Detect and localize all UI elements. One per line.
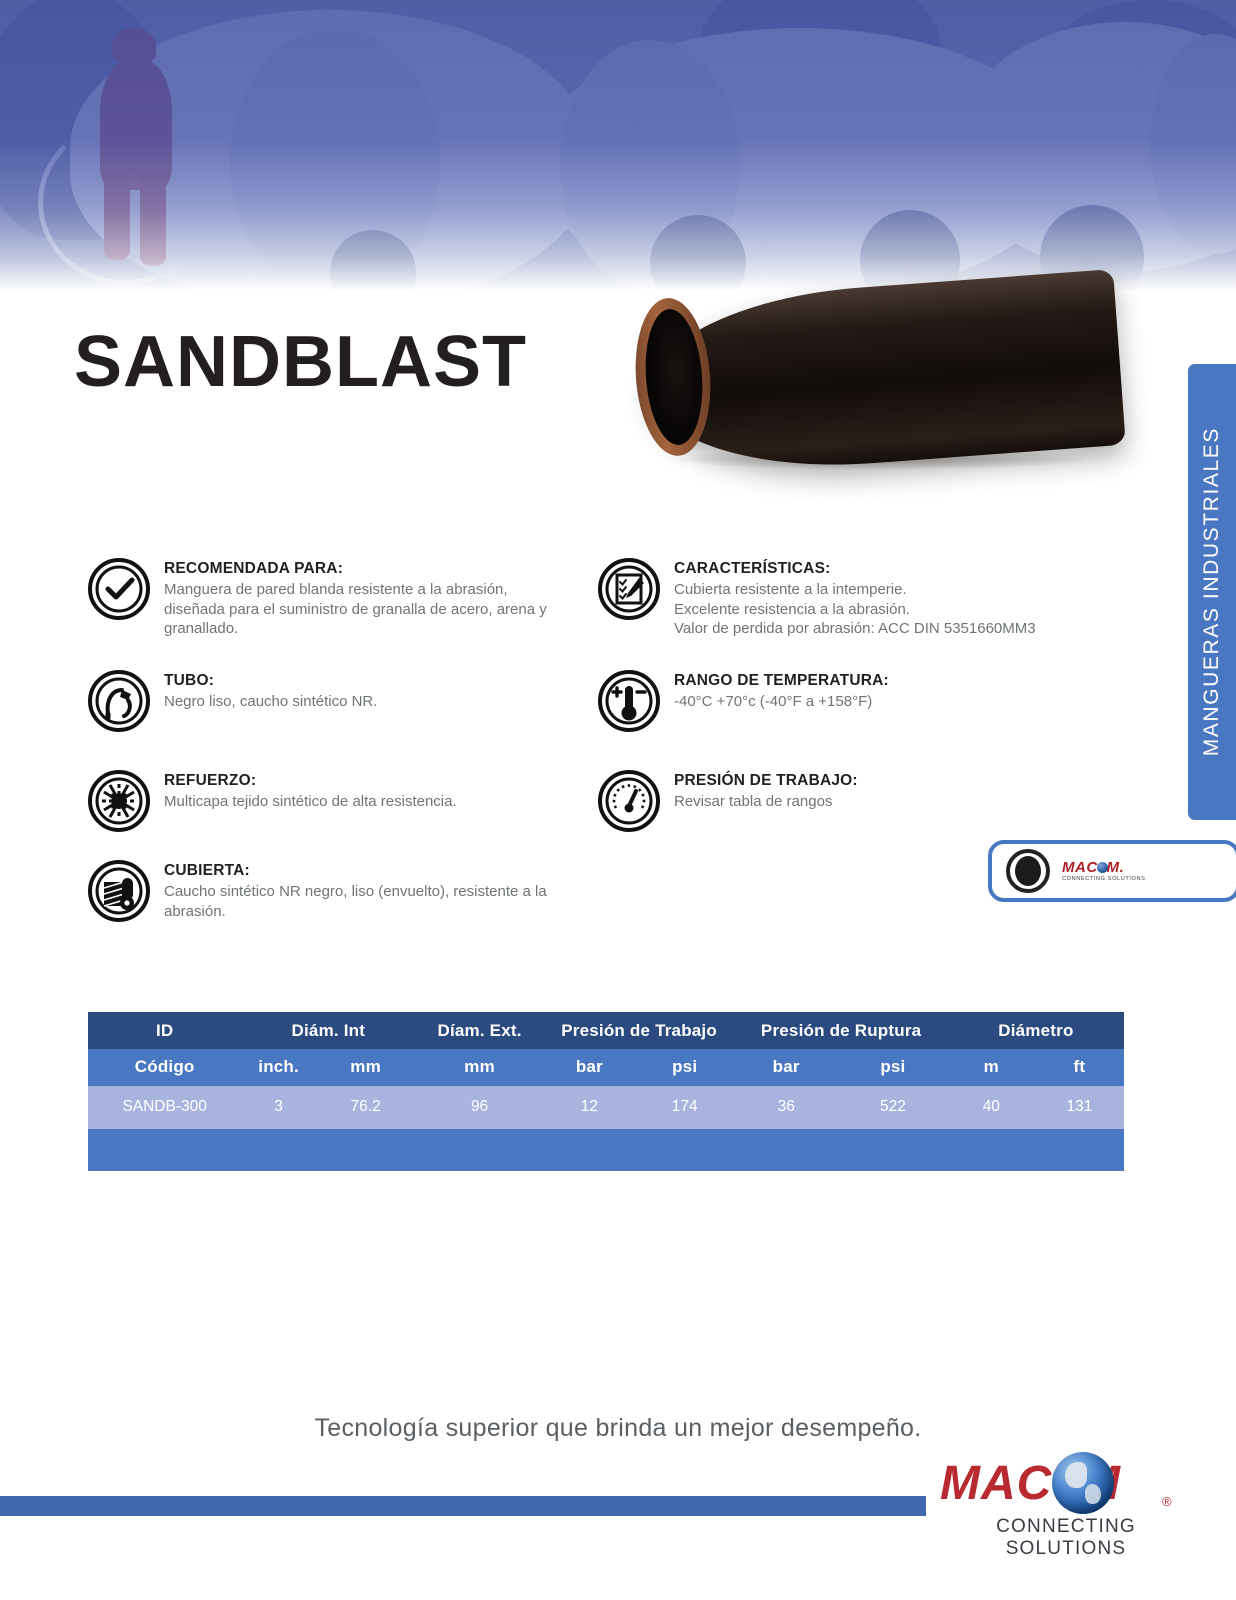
badge-logo-subtitle: CONNECTING SOLUTIONS	[1062, 877, 1145, 883]
table-unit-header: bar	[544, 1049, 635, 1086]
pressure-gauge-icon	[598, 770, 660, 832]
table-cell: 76.2	[316, 1086, 415, 1129]
product-image	[600, 262, 1140, 487]
feature-body: Negro liso, caucho sintético NR.	[164, 692, 377, 712]
feature-item-presion-de-trabajo: PRESIÓN DE TRABAJO: Revisar tabla de ran…	[598, 770, 1098, 832]
table-footer-cell	[88, 1129, 1124, 1171]
feature-heading: CUBIERTA:	[164, 862, 558, 880]
hose-cross-section-icon	[1006, 849, 1050, 893]
table-footer-row	[88, 1129, 1124, 1171]
feature-heading: PRESIÓN DE TRABAJO:	[674, 772, 858, 790]
hose-nozzle-icon	[88, 670, 150, 732]
table-group-header: Presión de Ruptura	[734, 1012, 947, 1049]
feature-body: Revisar tabla de rangos	[674, 792, 858, 812]
table-unit-header: psi	[838, 1049, 948, 1086]
footer-bar	[0, 1496, 926, 1516]
table-cell: 3	[241, 1086, 316, 1129]
table-unit-header: psi	[635, 1049, 734, 1086]
table-unit-header: ft	[1035, 1049, 1124, 1086]
feature-heading: REFUERZO:	[164, 772, 457, 790]
feature-body: Manguera de pared blanda resistente a la…	[164, 580, 558, 639]
badge-logo: MACM. CONNECTING SOLUTIONS	[1062, 860, 1145, 883]
feature-body: Multicapa tejido sintético de alta resis…	[164, 792, 457, 812]
table-unit-header: m	[948, 1049, 1035, 1086]
feature-heading: RANGO DE TEMPERATURA:	[674, 672, 889, 690]
category-tab-label: MANGUERAS INDUSTRIALES	[1200, 427, 1224, 756]
table-unit-header: Código	[88, 1049, 241, 1086]
category-tab-mangueras-industriales[interactable]: MANGUERAS INDUSTRIALES	[1188, 364, 1236, 820]
feature-item-tubo: TUBO: Negro liso, caucho sintético NR.	[88, 670, 558, 732]
footer-logo-subtitle: CONNECTING SOLUTIONS	[942, 1516, 1190, 1560]
feature-heading: TUBO:	[164, 672, 377, 690]
table-row: SANDB-300 3 76.2 96 12 174 36 522 40 131	[88, 1086, 1124, 1129]
badge-logo-text: MACM.	[1062, 860, 1145, 875]
feature-item-recomendada-para: RECOMENDADA PARA: Manguera de pared blan…	[88, 558, 558, 639]
table-group-header-row: ID Diám. Int Díam. Ext. Presión de Traba…	[88, 1012, 1124, 1049]
table-group-header: Diámetro	[948, 1012, 1124, 1049]
feature-heading: CARACTERÍSTICAS:	[674, 560, 1036, 578]
banner-blue-overlay	[0, 0, 1236, 290]
specifications-table: ID Diám. Int Díam. Ext. Presión de Traba…	[88, 1012, 1124, 1171]
globe-icon	[1052, 1452, 1114, 1514]
clipboard-pencil-icon	[598, 558, 660, 620]
table-unit-header-row: Código inch. mm mm bar psi bar psi m ft	[88, 1049, 1124, 1086]
hose-body	[644, 269, 1126, 479]
table-cell: 40	[948, 1086, 1035, 1129]
table-unit-header: mm	[415, 1049, 543, 1086]
table-group-header: Díam. Ext.	[415, 1012, 543, 1049]
check-circle-icon	[88, 558, 150, 620]
woven-reinforcement-icon	[88, 770, 150, 832]
footer-tagline: Tecnología superior que brinda un mejor …	[0, 1414, 1236, 1443]
thermometer-icon	[598, 670, 660, 732]
feature-item-rango-de-temperatura: RANGO DE TEMPERATURA: -40°C +70°c (-40°F…	[598, 670, 1098, 732]
macom-badge: MACM. CONNECTING SOLUTIONS	[988, 840, 1236, 902]
table-cell: 12	[544, 1086, 635, 1129]
feature-body: -40°C +70°c (-40°F a +158°F)	[674, 692, 889, 712]
table-cell: 131	[1035, 1086, 1124, 1129]
table-cell: 522	[838, 1086, 948, 1129]
table-cell: SANDB-300	[88, 1086, 241, 1129]
table-cell: 96	[415, 1086, 543, 1129]
feature-body: Cubierta resistente a la intemperie. Exc…	[674, 580, 1036, 639]
feature-heading: RECOMENDADA PARA:	[164, 560, 558, 578]
table-group-header: Presión de Trabajo	[544, 1012, 735, 1049]
feature-item-caracteristicas: CARACTERÍSTICAS: Cubierta resistente a l…	[598, 558, 1098, 639]
table-unit-header: bar	[734, 1049, 838, 1086]
feature-item-cubierta: CUBIERTA: Caucho sintético NR negro, lis…	[88, 860, 558, 922]
page-title: SANDBLAST	[74, 326, 527, 398]
table-cell: 174	[635, 1086, 734, 1129]
hose-layers-icon	[88, 860, 150, 922]
header-banner	[0, 0, 1236, 290]
table-unit-header: mm	[316, 1049, 415, 1086]
table-group-header: Diám. Int	[241, 1012, 415, 1049]
feature-item-refuerzo: REFUERZO: Multicapa tejido sintético de …	[88, 770, 558, 832]
table-cell: 36	[734, 1086, 838, 1129]
macom-footer-logo: MAC_M ® CONNECTING SOLUTIONS	[930, 1452, 1190, 1562]
registered-mark-icon: ®	[1162, 1494, 1172, 1509]
table-group-header: ID	[88, 1012, 241, 1049]
table-unit-header: inch.	[241, 1049, 316, 1086]
feature-body: Caucho sintético NR negro, liso (envuelt…	[164, 882, 558, 921]
